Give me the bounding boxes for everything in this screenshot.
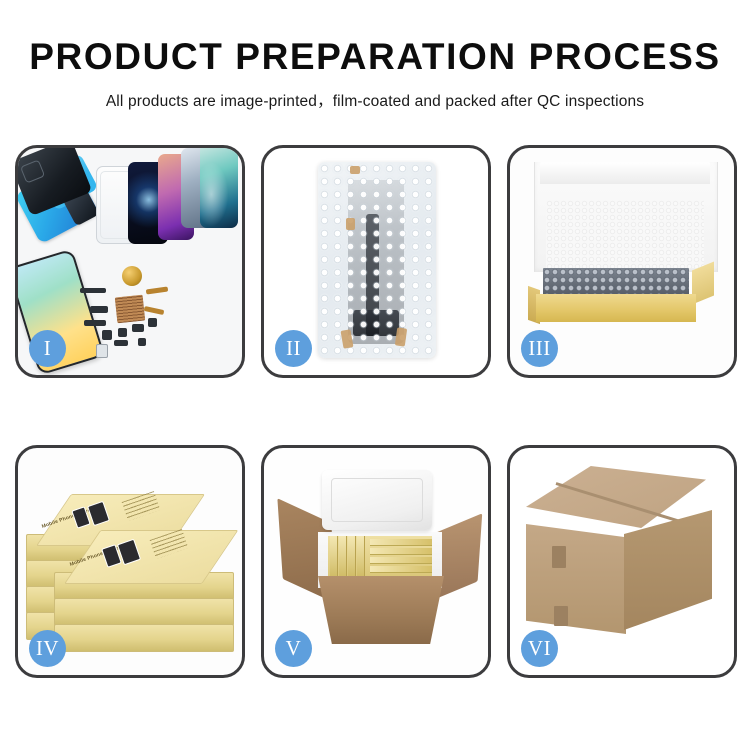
step-badge-1: I [29, 330, 66, 367]
foam-lid [322, 470, 432, 530]
step-badge-2: II [275, 330, 312, 367]
carton-tape-strip [552, 546, 566, 568]
step-badge-5: V [275, 630, 312, 667]
carton-front-face [526, 524, 626, 634]
small-part [148, 318, 157, 327]
sim-tray [96, 344, 108, 358]
small-part [114, 340, 128, 346]
step-badge-6: VI [521, 630, 558, 667]
flex-cable [146, 286, 168, 294]
box-lid-edge [540, 162, 710, 184]
sealed-shipping-carton-image: VI [510, 448, 734, 675]
retail-box-edge [357, 536, 365, 580]
carton-body [318, 576, 444, 644]
retail-box-edge [370, 557, 432, 564]
phone-parts-collage-image: I [18, 148, 242, 375]
small-part [118, 328, 127, 337]
white-foam-sheet [546, 200, 704, 268]
page-header: PRODUCT PREPARATION PROCESS All products… [0, 0, 750, 111]
step-badge-4: IV [29, 630, 66, 667]
carton-tape-strip [554, 606, 568, 626]
bubble-wrapped-part-image: II [264, 148, 488, 375]
bubble-wrapped-contents [543, 268, 689, 296]
bubble-texture [318, 162, 436, 358]
process-step-4: Mobile Phone Spare Parts Mobile Phone Sp… [15, 445, 245, 678]
retail-box-edge [370, 548, 432, 555]
process-step-6: VI [507, 445, 737, 678]
stacked-retail-boxes-image: Mobile Phone Spare Parts Mobile Phone Sp… [18, 448, 242, 675]
box-stack: Mobile Phone Spare Parts Mobile Phone Sp… [26, 476, 236, 652]
carton-with-foam-liner-image: V [264, 448, 488, 675]
tape-piece [346, 218, 355, 230]
retail-box-edge [370, 539, 432, 546]
carton-side-face [624, 510, 712, 630]
box-front-wall [536, 294, 696, 322]
logic-board-chip [115, 295, 146, 324]
process-step-5: V [261, 445, 491, 678]
page-subtitle: All products are image-printed，film-coat… [0, 75, 750, 111]
tape-piece [350, 166, 360, 174]
teal-display-phone [200, 148, 238, 228]
retail-box-edge [330, 536, 338, 580]
small-part [138, 338, 146, 346]
open-kraft-box-image: III [510, 148, 734, 375]
retail-box-edge [348, 536, 356, 580]
stacked-box [54, 598, 234, 626]
packed-retail-boxes [328, 536, 432, 580]
small-part [84, 320, 106, 326]
retail-box-edge [370, 566, 432, 573]
step-badge-3: III [521, 330, 558, 367]
retail-box-edge [339, 536, 347, 580]
process-step-3: III [507, 145, 737, 378]
vibration-motor-part [122, 266, 142, 286]
process-steps-grid: I II [15, 145, 737, 678]
bubble-wrap-bag [318, 162, 436, 358]
flex-cable [144, 306, 165, 315]
small-part [80, 288, 106, 293]
product-preparation-process-page: PRODUCT PREPARATION PROCESS All products… [0, 0, 750, 750]
small-part [90, 306, 108, 313]
small-part [102, 330, 112, 340]
process-step-2: II [261, 145, 491, 378]
process-step-1: I [15, 145, 245, 378]
small-part [132, 324, 144, 332]
stacked-box [54, 624, 234, 652]
page-title: PRODUCT PREPARATION PROCESS [0, 0, 750, 75]
